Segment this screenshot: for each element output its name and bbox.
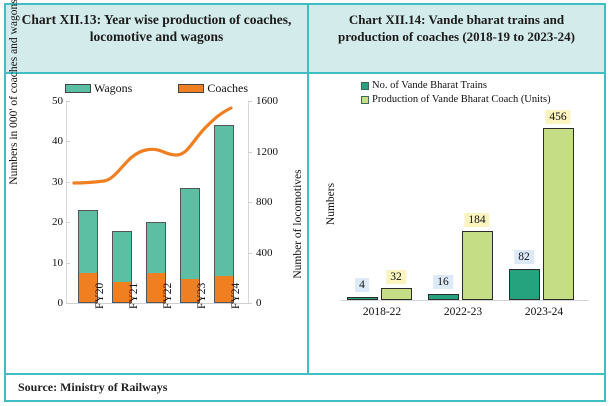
locomotives-line	[66, 101, 249, 303]
label-2022-23-coach: 184	[464, 213, 489, 227]
y-tick-secondary-0: 0	[256, 297, 262, 309]
legend-item-coaches: Coaches	[178, 80, 248, 96]
y-tick-primary-40: 40	[52, 135, 63, 147]
y-tick-secondary-1200: 1200	[256, 146, 278, 158]
y-axis-title-primary: Numbers in 000' of coaches and wagons	[8, 0, 20, 192]
legend-swatch-vande-coach	[361, 96, 369, 104]
group-2023-24: 82 456 2023-24	[507, 112, 581, 300]
y-tick-primary-0: 0	[58, 297, 64, 309]
chart-xii-13-plot: Wagons Coaches Numbers in 000' of coache…	[6, 74, 307, 373]
legend-item-wagons: Wagons	[65, 80, 132, 96]
group-2022-23: 16 184 2022-23	[426, 112, 500, 300]
chart-xii-14-title: Chart XII.14: Vande bharat trains and pr…	[309, 5, 604, 74]
x-label-fy21: FY21	[128, 283, 140, 309]
x-label-fy24: FY24	[230, 283, 242, 309]
legend-label-coaches: Coaches	[207, 81, 248, 96]
y-tick-primary-30: 30	[52, 176, 63, 188]
x-label-fy20: FY20	[94, 283, 106, 309]
y-tick-primary-10: 10	[52, 257, 63, 269]
bar-2023-24-trains[interactable]	[509, 269, 540, 300]
x-label-2022-23: 2022-23	[426, 306, 500, 318]
chart-xii-14-plot: No. of Vande Bharat Trains Production of…	[309, 74, 604, 373]
x-axis-line-right	[341, 300, 589, 301]
figure-frame: Chart XII.13: Year wise production of co…	[4, 3, 606, 402]
chart-xii-14-plot-area: 4 32 2018-22 16 184 2022-23 82	[341, 112, 589, 300]
legend-item-vande-coach: Production of Vande Bharat Coach (Units)	[361, 93, 551, 107]
chart-xii-13-legend: Wagons Coaches	[6, 80, 307, 96]
x-label-2023-24: 2023-24	[507, 306, 581, 318]
legend-item-vande-trains: No. of Vande Bharat Trains	[361, 79, 551, 93]
legend-swatch-wagons	[65, 84, 91, 93]
x-label-2018-22: 2018-22	[345, 306, 419, 318]
x-label-fy22: FY22	[162, 283, 174, 309]
label-2023-24-coach: 456	[545, 110, 570, 124]
y-tick-secondary-400: 400	[256, 247, 273, 259]
y-tick-secondary-800: 800	[256, 196, 273, 208]
bar-2018-22-coach[interactable]	[381, 288, 412, 300]
source-note: Source: Ministry of Railways	[6, 373, 604, 400]
x-label-fy23: FY23	[196, 283, 208, 309]
bar-2023-24-coach[interactable]	[543, 128, 574, 300]
chart-panel-right: Chart XII.14: Vande bharat trains and pr…	[309, 5, 604, 373]
label-2023-24-trains: 82	[514, 250, 534, 264]
legend-label-vande-coach: Production of Vande Bharat Coach (Units)	[372, 93, 551, 107]
label-2022-23-trains: 16	[433, 275, 453, 289]
chart-xii-14-legend: No. of Vande Bharat Trains Production of…	[361, 79, 551, 107]
chart-xii-13-title: Chart XII.13: Year wise production of co…	[6, 5, 307, 74]
group-2018-22: 4 32 2018-22	[345, 112, 419, 300]
chart-panel-left: Chart XII.13: Year wise production of co…	[6, 5, 309, 373]
label-2018-22-trains: 4	[355, 278, 369, 292]
bar-2022-23-trains[interactable]	[428, 294, 459, 300]
label-2018-22-coach: 32	[386, 270, 406, 284]
y-axis-title-numbers: Numbers	[325, 144, 337, 264]
y-tick-primary-50: 50	[52, 95, 63, 107]
bar-2022-23-coach[interactable]	[462, 231, 493, 300]
legend-swatch-coaches	[178, 84, 204, 93]
y-axis-title-secondary: Number of locomotives	[292, 144, 304, 304]
chart-xii-13-plot-area: 0 10 20 30 40 50 0 400	[72, 101, 243, 303]
legend-label-vande-trains: No. of Vande Bharat Trains	[372, 79, 487, 93]
y-tick-secondary-1600: 1600	[256, 95, 278, 107]
chart-panels: Chart XII.13: Year wise production of co…	[6, 5, 604, 373]
bar-2018-22-trains[interactable]	[347, 297, 378, 300]
y-tick-primary-20: 20	[52, 216, 63, 228]
legend-label-wagons: Wagons	[94, 81, 132, 96]
legend-swatch-vande-trains	[361, 82, 369, 90]
